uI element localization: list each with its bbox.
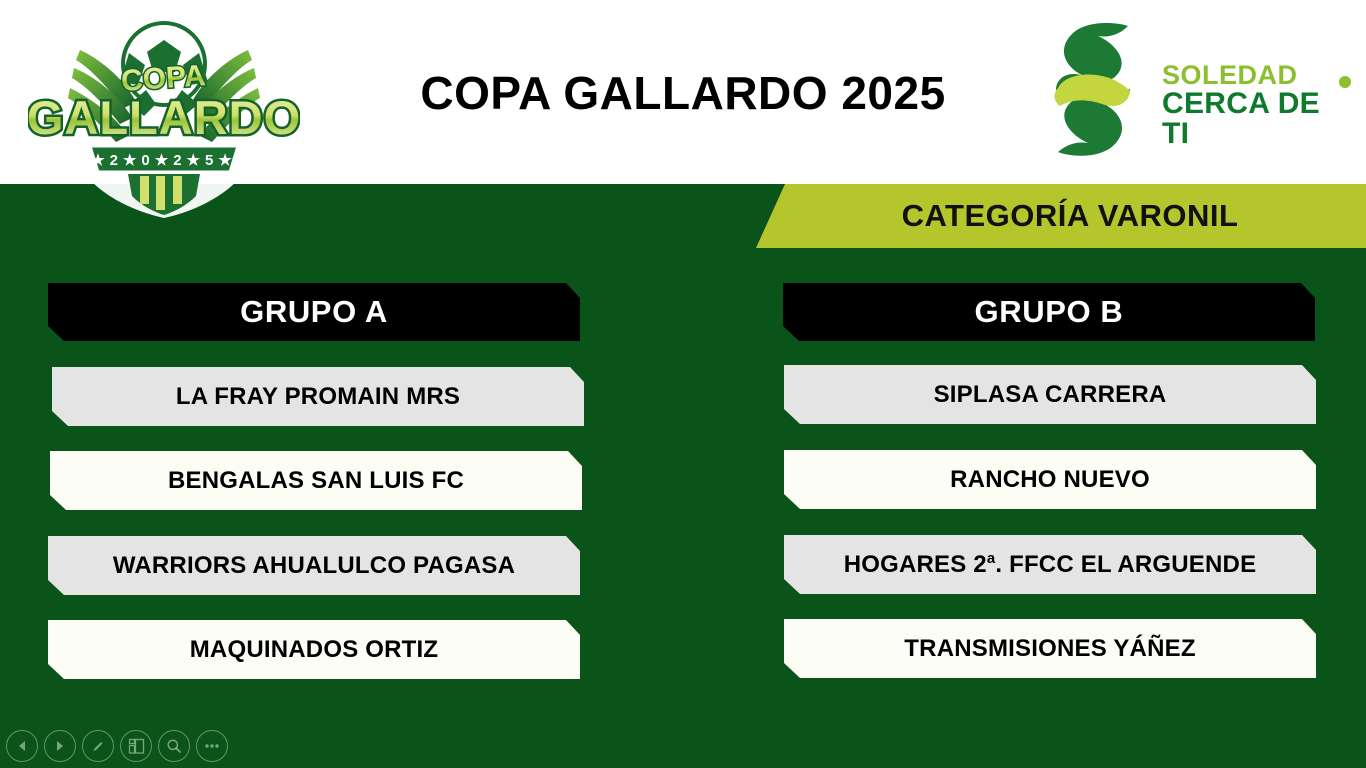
team-label: RANCHO NUEVO (950, 466, 1150, 494)
team-label: WARRIORS AHUALULCO PAGASA (113, 552, 515, 580)
category-banner: CATEGORÍA VARONIL (756, 184, 1366, 248)
group-b-header: GRUPO B (783, 283, 1315, 341)
previous-slide-icon (15, 739, 29, 753)
soledad-s-mark-icon (1050, 20, 1140, 160)
team-box[interactable]: RANCHO NUEVO (784, 450, 1316, 509)
team-label: TRANSMISIONES YÁÑEZ (904, 635, 1195, 663)
team-label: MAQUINADOS ORTIZ (190, 636, 439, 664)
next-slide-button[interactable] (44, 730, 76, 762)
soledad-line2-text: CERCA DE TI (1162, 87, 1320, 150)
zoom-icon (166, 738, 182, 754)
category-label: CATEGORÍA VARONIL (884, 198, 1239, 234)
copa-gallardo-crest: COPA GALLARDO ★2★0★2★5★ (28, 6, 300, 222)
team-label: LA FRAY PROMAIN MRS (176, 383, 460, 411)
team-box[interactable]: MAQUINADOS ORTIZ (48, 620, 580, 679)
team-box[interactable]: HOGARES 2a. FFCC EL ARGUENDE (784, 535, 1316, 594)
team-box[interactable]: TRANSMISIONES YÁÑEZ (784, 619, 1316, 678)
soledad-wordmark: SOLEDAD CERCA DE TI (1162, 62, 1350, 149)
team-box[interactable]: SIPLASA CARRERA (784, 365, 1316, 424)
presentation-toolbar (6, 730, 228, 762)
soledad-line1: SOLEDAD (1162, 62, 1350, 89)
previous-slide-button[interactable] (6, 730, 38, 762)
zoom-button[interactable] (158, 730, 190, 762)
team-box[interactable]: WARRIORS AHUALULCO PAGASA (48, 536, 580, 595)
svg-text:★2★0★2★5★: ★2★0★2★5★ (91, 152, 237, 169)
pen-button[interactable] (82, 730, 114, 762)
all-slides-icon (128, 738, 145, 755)
more-options-icon (204, 743, 220, 749)
team-box[interactable]: BENGALAS SAN LUIS FC (50, 451, 582, 510)
more-options-button[interactable] (196, 730, 228, 762)
team-label: HOGARES 2a. FFCC EL ARGUENDE (844, 551, 1257, 579)
group-b-title: GRUPO B (975, 294, 1124, 330)
group-a-header: GRUPO A (48, 283, 580, 341)
pen-icon (90, 738, 106, 754)
all-slides-button[interactable] (120, 730, 152, 762)
soledad-accent-dot-icon (1339, 76, 1351, 88)
group-a-title: GRUPO A (240, 294, 388, 330)
next-slide-icon (53, 739, 67, 753)
team-label: BENGALAS SAN LUIS FC (168, 467, 464, 495)
svg-text:GALLARDO: GALLARDO (28, 91, 300, 144)
soledad-logo: SOLEDAD CERCA DE TI (1040, 14, 1350, 170)
soledad-line2: CERCA DE TI (1162, 89, 1350, 149)
header-band: COPA GALLARDO 2025 (0, 0, 1366, 184)
team-label: SIPLASA CARRERA (934, 381, 1167, 409)
team-box[interactable]: LA FRAY PROMAIN MRS (52, 367, 584, 426)
